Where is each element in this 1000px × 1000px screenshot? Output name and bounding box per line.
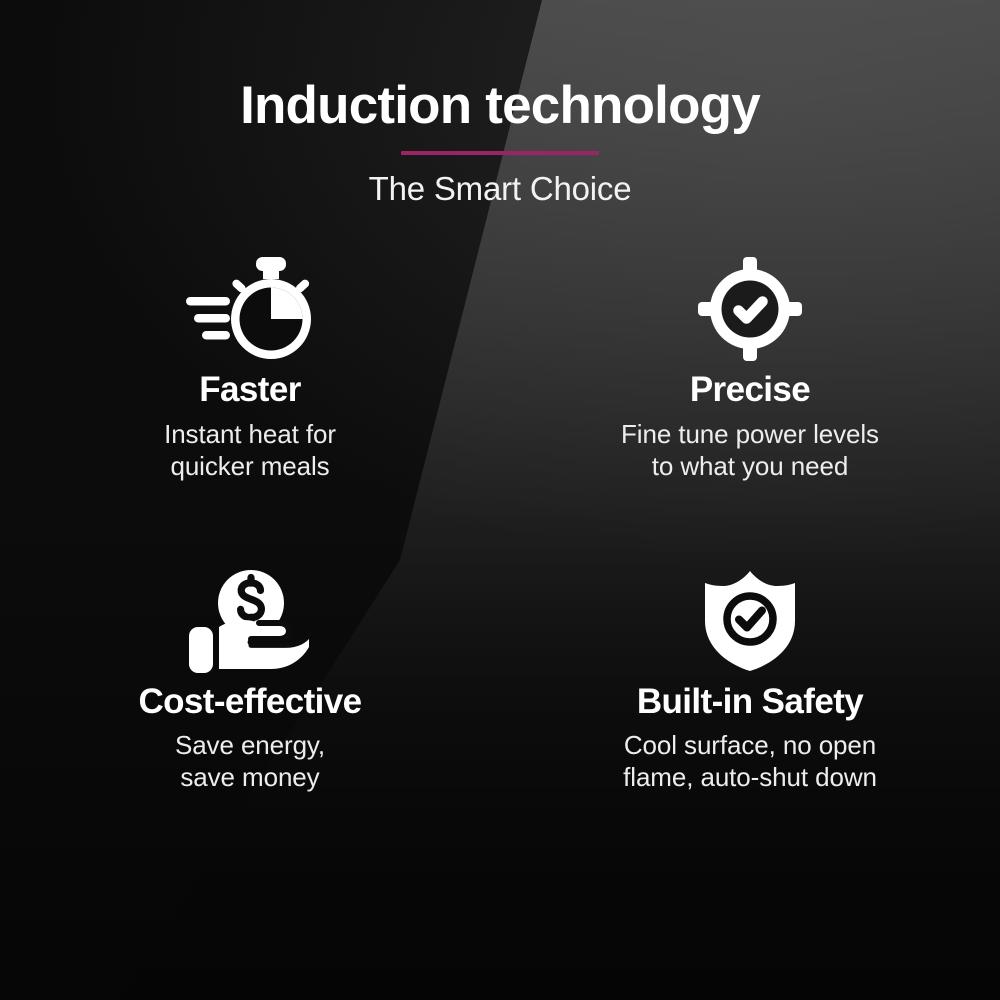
feature-description: Cool surface, no open flame, auto-shut d… <box>623 730 877 794</box>
feature-title: Cost-effective <box>138 683 361 722</box>
accent-divider <box>401 151 599 155</box>
feature-title: Built-in Safety <box>637 683 863 722</box>
hand-holding-coin-icon <box>189 567 311 675</box>
poster-content: Induction technology The Smart Choice <box>0 0 1000 1000</box>
poster-header: Induction technology The Smart Choice <box>0 0 1000 207</box>
page-subtitle: The Smart Choice <box>0 171 1000 207</box>
induction-technology-poster: Induction technology The Smart Choice <box>0 0 1000 1000</box>
feature-title: Precise <box>690 371 810 410</box>
feature-description: Save energy, save money <box>175 730 325 794</box>
feature-title: Faster <box>199 371 300 410</box>
feature-description: Fine tune power levels to what you need <box>621 419 879 483</box>
feature-card-cost-effective: Cost-effective Save energy, save money <box>0 567 500 794</box>
feature-description: Instant heat for quicker meals <box>164 419 336 483</box>
feature-card-faster: Faster Instant heat for quicker meals <box>0 255 500 482</box>
feature-card-precise: Precise Fine tune power levels to what y… <box>500 255 1000 482</box>
page-title: Induction technology <box>0 78 1000 134</box>
feature-grid: Faster Instant heat for quicker meals <box>0 255 1000 794</box>
stopwatch-speed-icon <box>184 255 316 363</box>
shield-check-icon <box>701 567 799 675</box>
feature-card-built-in-safety: Built-in Safety Cool surface, no open fl… <box>500 567 1000 794</box>
target-check-icon <box>698 255 802 363</box>
